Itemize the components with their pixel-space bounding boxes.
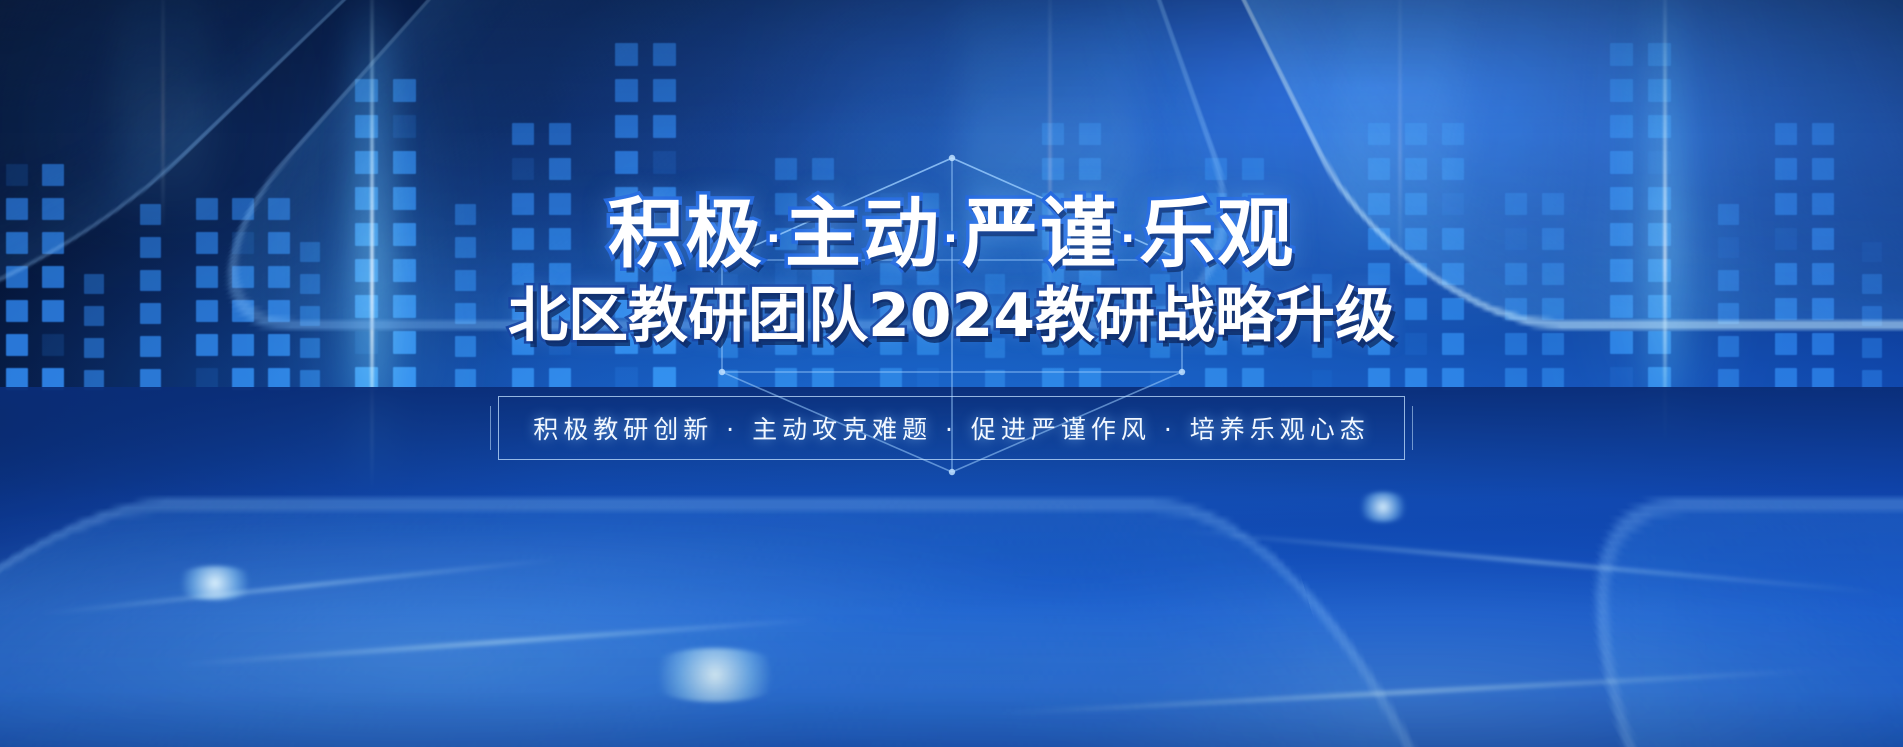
headline-separator: ·	[1120, 216, 1137, 262]
headline-word: 主动	[785, 189, 941, 278]
banner-subheadline: 北区教研团队2024教研战略升级	[508, 286, 1395, 346]
headline-word: 积极	[608, 189, 764, 278]
promo-banner: 积极·主动·严谨·乐观 北区教研团队2024教研战略升级 积极教研创新 · 主动…	[0, 0, 1903, 747]
tagline-frame: 积极教研创新 · 主动攻克难题 · 促进严谨作风 · 培养乐观心态	[498, 396, 1405, 460]
banner-tagline: 积极教研创新 · 主动攻克难题 · 促进严谨作风 · 培养乐观心态	[533, 410, 1370, 446]
banner-headline: 积极·主动·严谨·乐观	[608, 196, 1296, 272]
headline-word: 乐观	[1139, 189, 1295, 278]
banner-content: 积极·主动·严谨·乐观 北区教研团队2024教研战略升级 积极教研创新 · 主动…	[0, 0, 1903, 747]
headline-word: 严谨	[962, 189, 1118, 278]
headline-separator: ·	[766, 216, 783, 262]
headline-separator: ·	[943, 216, 960, 262]
